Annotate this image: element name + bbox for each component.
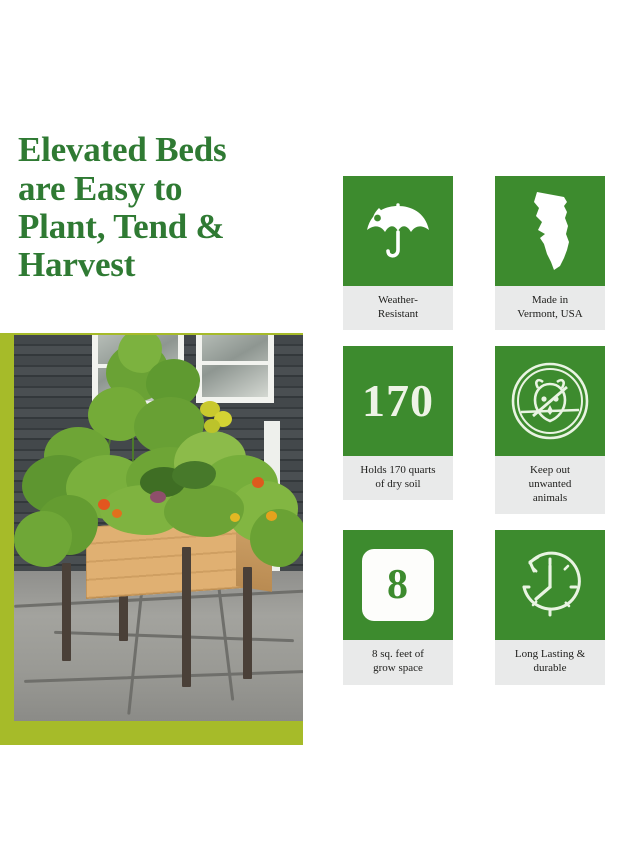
umbrella-raindrop-icon	[359, 192, 437, 270]
badge-soil-capacity[interactable]: 170 Holds 170 quarts of dry soil	[343, 346, 453, 514]
badge-caption-line: 8 sq. feet of	[347, 647, 449, 661]
grow-space-value: 8	[387, 564, 409, 606]
badge-icon-tile	[343, 176, 453, 286]
badge-icon-tile: 8	[343, 530, 453, 640]
badge-row: Weather- Resistant Made in Vermont, USA	[343, 176, 605, 330]
page-title-line-3: Plant, Tend &	[18, 208, 318, 246]
badge-caption-line: Made in	[499, 293, 601, 307]
badge-icon-tile	[495, 530, 605, 640]
badge-row: 170 Holds 170 quarts of dry soil	[343, 346, 605, 514]
badge-caption-line: of dry soil	[347, 477, 449, 491]
badge-icon-tile	[495, 346, 605, 456]
badge-caption: Weather- Resistant	[343, 286, 453, 330]
clock-arrow-icon	[508, 543, 592, 627]
badge-long-lasting[interactable]: Long Lasting & durable	[495, 530, 605, 684]
badge-caption-line: grow space	[347, 661, 449, 675]
badge-icon-tile: 170	[343, 346, 453, 456]
badge-keep-out-animals[interactable]: Keep out unwanted animals	[495, 346, 605, 514]
badge-caption-line: Resistant	[347, 307, 449, 321]
page-title-line-4: Harvest	[18, 246, 318, 284]
feature-badge-grid: Weather- Resistant Made in Vermont, USA	[343, 176, 605, 701]
product-feature-infographic: Elevated Beds are Easy to Plant, Tend & …	[0, 0, 636, 848]
badge-caption-line: Weather-	[347, 293, 449, 307]
badge-caption: Long Lasting & durable	[495, 640, 605, 684]
badge-caption-line: durable	[499, 661, 601, 675]
plant-foliage	[14, 335, 303, 575]
badge-caption-line: Keep out	[499, 463, 601, 477]
badge-made-in-vermont[interactable]: Made in Vermont, USA	[495, 176, 605, 330]
badge-weather-resistant[interactable]: Weather- Resistant	[343, 176, 453, 330]
badge-grow-space[interactable]: 8 8 sq. feet of grow space	[343, 530, 453, 684]
badge-caption: 8 sq. feet of grow space	[343, 640, 453, 684]
planter-leg	[62, 563, 71, 661]
badge-caption: Made in Vermont, USA	[495, 286, 605, 330]
page-title-line-2: are Easy to	[18, 170, 318, 208]
badge-caption: Holds 170 quarts of dry soil	[343, 456, 453, 500]
number-tile: 8	[362, 549, 434, 621]
page-title-line-1: Elevated Beds	[18, 131, 318, 169]
vermont-state-outline-icon	[520, 188, 580, 274]
no-animals-icon	[507, 358, 593, 444]
badge-caption-line: Holds 170 quarts	[347, 463, 449, 477]
badge-caption-line: Vermont, USA	[499, 307, 601, 321]
badge-row: 8 8 sq. feet of grow space	[343, 530, 605, 684]
planter-leg	[243, 567, 252, 679]
page-title: Elevated Beds are Easy to Plant, Tend & …	[18, 131, 318, 284]
capacity-value: 170	[362, 378, 434, 424]
badge-caption-line: unwanted	[499, 477, 601, 491]
badge-caption-line: animals	[499, 491, 601, 505]
badge-caption-line: Long Lasting &	[499, 647, 601, 661]
product-photo	[14, 335, 303, 721]
badge-caption: Keep out unwanted animals	[495, 456, 605, 514]
badge-icon-tile	[495, 176, 605, 286]
